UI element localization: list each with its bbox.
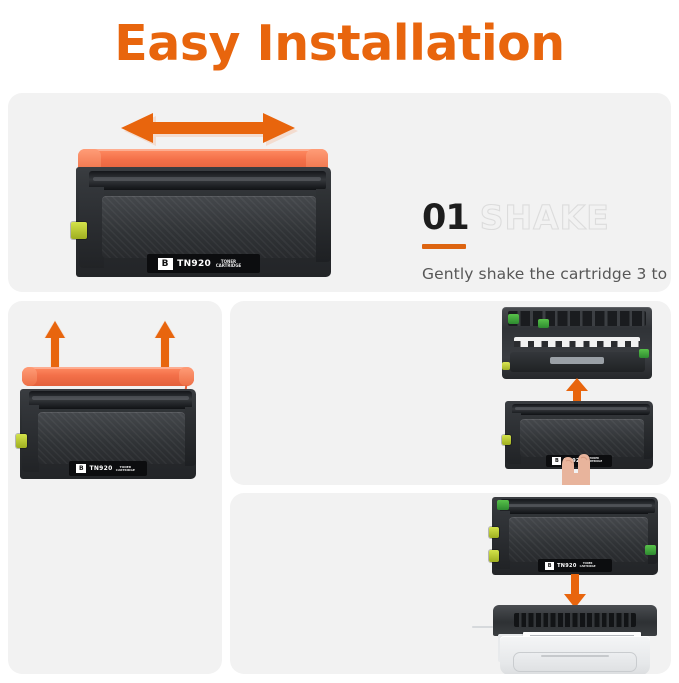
hand-icon: [548, 447, 600, 485]
printer-side-edge: [472, 626, 493, 628]
step-01-number: 01: [422, 201, 469, 236]
cartridge-label-sub: TONER CARTRIDGE: [216, 260, 242, 268]
assembly-drum-bar: [500, 499, 654, 514]
cartridge-label-sub-line2: CARTRIDGE: [580, 565, 596, 568]
cartridge-drum-bar: [89, 171, 326, 190]
step-panel-02: B TN920 TONER CARTRIDGE 02 REMOVE Remove…: [8, 301, 222, 674]
cartridge-front-face: [38, 412, 186, 463]
printer-paper-tray: [513, 652, 637, 672]
cartridge-label-model: TN920: [557, 563, 577, 569]
removed-orange-cover: [22, 367, 194, 386]
drum-lower-tray: [510, 352, 645, 372]
step-01-accent-bar: [422, 244, 466, 249]
drum-yellow-tab: [502, 362, 510, 370]
step-panel-04: B TN920 TONER CARTRIDGE 04 INSTALL Inser…: [230, 493, 671, 674]
drum-unit: [502, 307, 652, 379]
drum-green-latch-left: [508, 314, 519, 323]
cartridge-green-tab: [502, 435, 511, 445]
page-title: Easy Installation: [114, 19, 564, 68]
cartridge-right-hinge: [644, 415, 653, 460]
removed-cover-cap-left: [22, 367, 37, 386]
cartridge-label-model: TN920: [177, 259, 211, 269]
cartridge-label: B TN920 TONER CARTRIDGE: [147, 254, 259, 273]
cartridge-label-sub: TONER CARTRIDGE: [116, 466, 135, 472]
cartridge-drum-bar: [512, 404, 650, 416]
step-01-description: Gently shake the cartridge 3 to 5 times …: [422, 262, 671, 292]
cartridge-label: B TN920 TONER CARTRIDGE: [538, 559, 611, 572]
toner-cartridge-uncovered: B TN920 TONER CARTRIDGE: [20, 389, 196, 479]
down-arrow-icon: [561, 573, 589, 609]
drum-top-rail: [508, 311, 646, 327]
cartridge-label: B TN920 TONER CARTRIDGE: [69, 461, 146, 475]
cartridge-label-badge: B: [158, 258, 173, 270]
double-headed-horizontal-arrow-icon: [113, 107, 303, 149]
step-panel-03: B TN920 TONER CARTRIDGE 03 INSTALL Inser…: [230, 301, 671, 485]
cartridge-label-sub-line2: CARTRIDGE: [116, 468, 135, 472]
cartridge-drum-bar: [29, 391, 193, 409]
printer-body: [500, 636, 651, 674]
step-01-text-block: 01 SHAKE Gently shake the cartridge 3 to…: [422, 201, 671, 292]
cartridge-right-hinge: [316, 189, 331, 262]
step-panel-01: B TN920 TONER CARTRIDGE 01 SHAKE Gently …: [8, 93, 671, 292]
cartridge-label-sub: TONER CARTRIDGE: [580, 563, 596, 568]
assembly-right-hinge: [648, 513, 658, 564]
cartridge-label-model: TN920: [89, 465, 112, 472]
drum-unit-with-toner-cartridge: B TN920 TONER CARTRIDGE: [492, 497, 658, 575]
step-01-keyword: SHAKE: [480, 201, 610, 234]
drum-green-latch-right: [639, 349, 650, 358]
cartridge-label-badge: B: [76, 464, 86, 473]
printer: [493, 605, 657, 674]
cartridge-green-tab: [71, 222, 87, 239]
cartridge-label-sub-line2: CARTRIDGE: [216, 263, 242, 268]
page-header: Easy Installation: [0, 0, 679, 86]
assembly-yellow-tab-top: [489, 527, 499, 539]
assembly-green-latch-left: [497, 500, 509, 510]
removed-cover-cap-right: [179, 367, 194, 386]
cartridge-right-hinge: [185, 407, 196, 466]
toner-cartridge: B TN920 TONER CARTRIDGE: [76, 167, 331, 277]
drum-green-latch-mid: [538, 319, 549, 328]
cartridge-front-face: [102, 196, 316, 259]
cartridge-label-badge: B: [545, 562, 554, 570]
step-01-heading: 01 SHAKE: [422, 201, 671, 236]
assembly-front-face: [509, 517, 648, 561]
drum-white-strip: [514, 337, 640, 346]
cartridge-green-tab: [16, 434, 27, 448]
assembly-green-latch-right: [645, 545, 657, 555]
printer-cartridge-slot: [514, 613, 635, 627]
assembly-yellow-tab-bottom: [489, 550, 499, 562]
